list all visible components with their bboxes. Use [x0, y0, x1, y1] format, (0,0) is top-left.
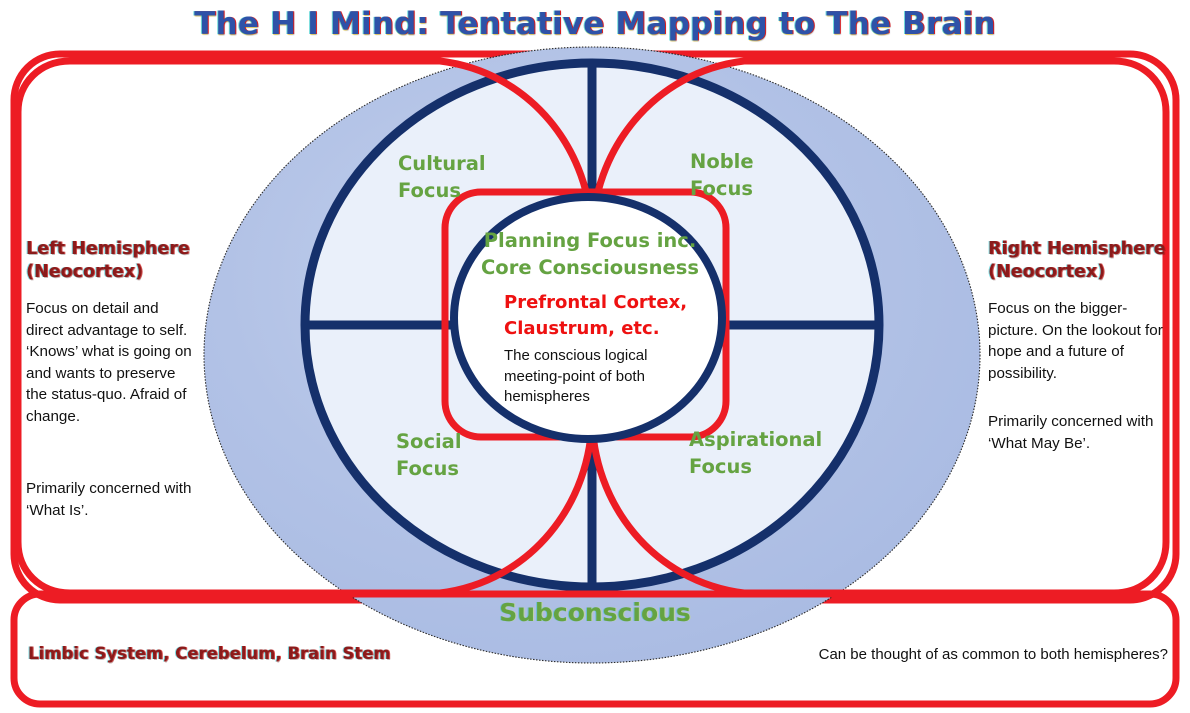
left-hemisphere-body-2: Primarily concerned with ‘What Is’.	[26, 478, 198, 521]
left-hemisphere-body-1: Focus on detail and direct advantage to …	[26, 298, 194, 427]
limbic-structures-label: Limbic System, Cerebelum, Brain Stem	[28, 644, 390, 663]
quadrant-label-cultural-focus: Cultural Focus	[398, 150, 486, 205]
common-hemispheres-note: Can be thought of as common to both hemi…	[819, 646, 1168, 663]
subconscious-label: Subconscious	[0, 598, 1190, 627]
core-red-text: Prefrontal Cortex, Claustrum, etc.	[504, 290, 724, 341]
right-hemisphere-body-1: Focus on the bigger-picture. On the look…	[988, 298, 1164, 384]
right-hemisphere-heading: Right Hemisphere (Neocortex)	[988, 238, 1188, 285]
core-note-text: The conscious logical meeting-point of b…	[504, 346, 724, 407]
quadrant-label-social-focus: Social Focus	[396, 428, 462, 483]
quadrant-label-noble-focus: Noble Focus	[690, 148, 754, 203]
right-hemisphere-body-2: Primarily concerned with ‘What May Be’.	[988, 411, 1164, 454]
quadrant-label-aspirational-focus: Aspirational Focus	[689, 426, 822, 481]
core-text-block: Planning Focus inc. Core Consciousness P…	[452, 228, 724, 407]
left-hemisphere-heading: Left Hemisphere (Neocortex)	[26, 238, 236, 285]
core-green-text: Planning Focus inc. Core Consciousness	[456, 228, 724, 281]
diagram-canvas: The H I Mind: Tentative Mapping to The B…	[0, 0, 1190, 713]
